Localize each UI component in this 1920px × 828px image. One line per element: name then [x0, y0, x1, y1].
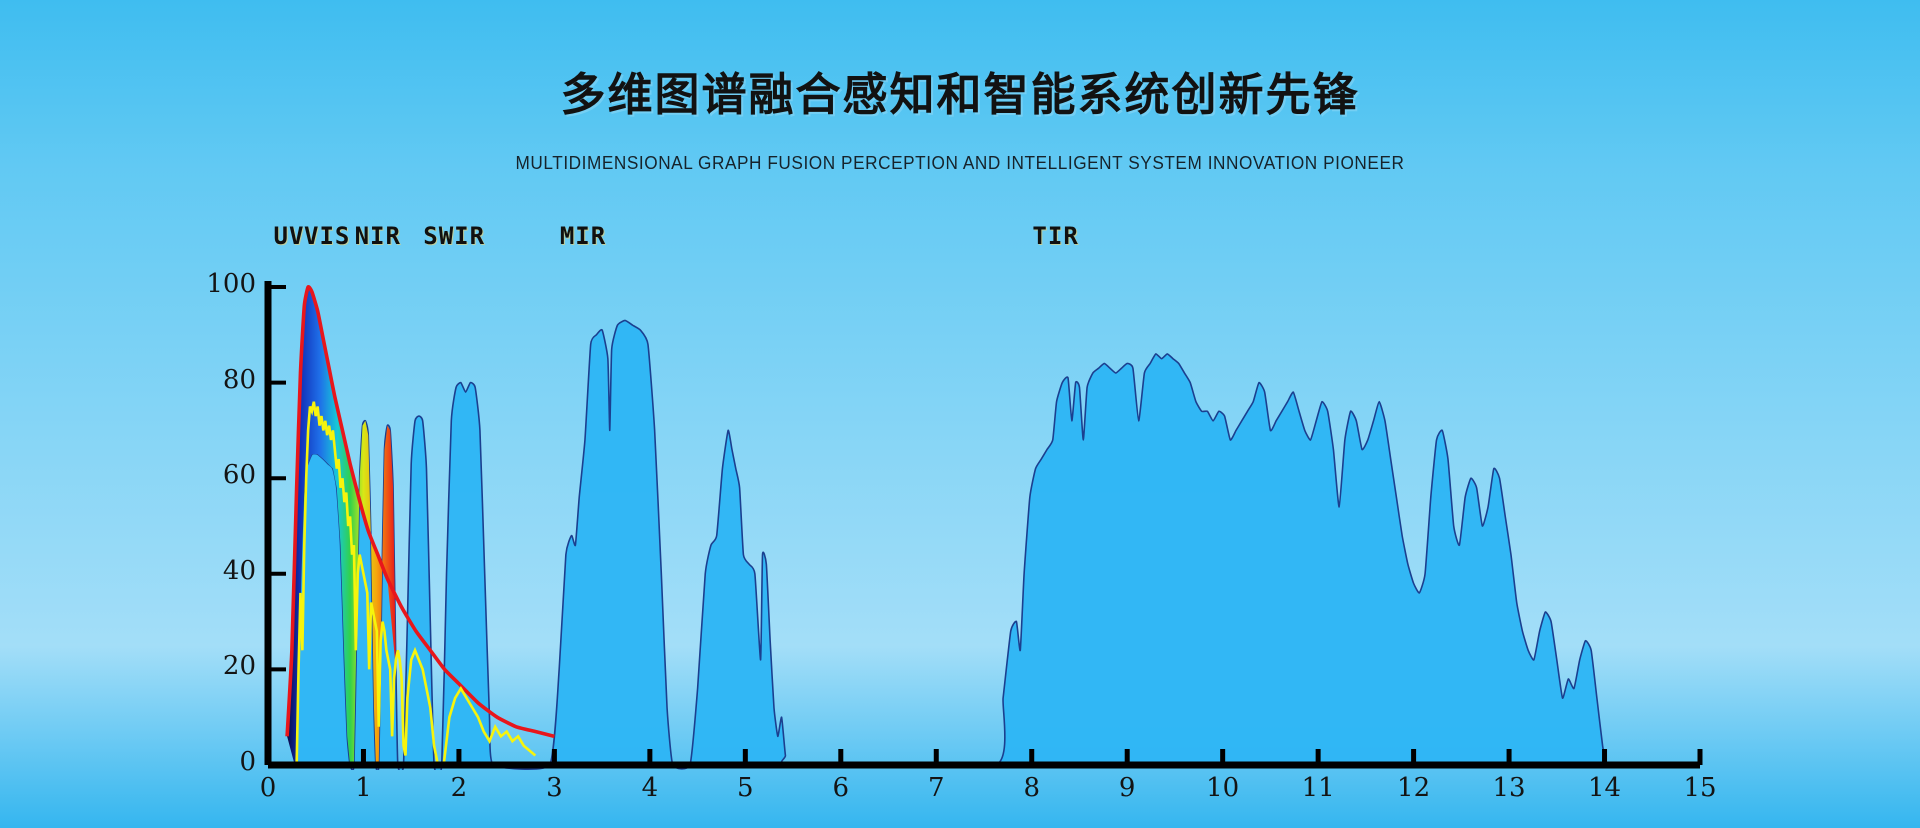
x-tick-label: 3	[529, 773, 579, 803]
poster-root: 多维图谱融合感知和智能系统创新先锋 MULTIDIMENSIONAL GRAPH…	[0, 0, 1920, 828]
x-tick-label: 0	[243, 773, 293, 803]
x-tick-label: 13	[1484, 773, 1534, 803]
x-tick-label: 15	[1675, 773, 1725, 803]
x-tick-label: 8	[1007, 773, 1057, 803]
plot-series-group	[287, 287, 1606, 775]
x-tick-label: 12	[1389, 773, 1439, 803]
x-tick-label: 7	[911, 773, 961, 803]
spectrum-chart	[0, 0, 1920, 828]
y-tick-label: 80	[196, 365, 256, 395]
x-tick-label: 6	[816, 773, 866, 803]
x-tick-label: 11	[1293, 773, 1343, 803]
x-tick-label: 14	[1580, 773, 1630, 803]
x-tick-label: 2	[434, 773, 484, 803]
y-tick-label: 20	[196, 651, 256, 681]
x-tick-label: 5	[720, 773, 770, 803]
x-tick-label: 1	[338, 773, 388, 803]
x-tick-label: 10	[1198, 773, 1248, 803]
y-tick-label: 40	[196, 556, 256, 586]
x-tick-label: 4	[625, 773, 675, 803]
x-tick-label: 9	[1102, 773, 1152, 803]
y-tick-label: 60	[196, 460, 256, 490]
series-transmittance-area	[295, 320, 1607, 774]
spectrum-svg	[0, 0, 1920, 828]
y-tick-label: 100	[196, 269, 256, 299]
